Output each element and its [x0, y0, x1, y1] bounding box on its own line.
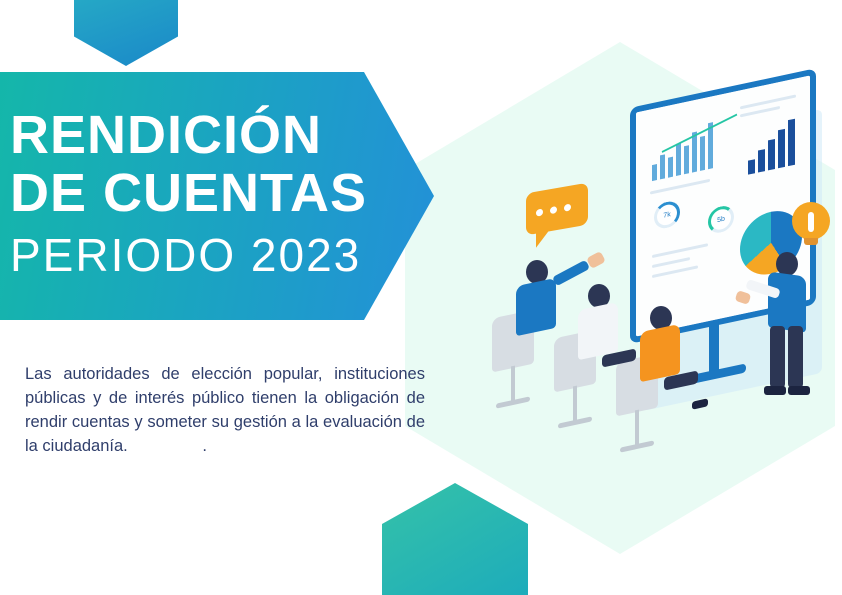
poster-subtitle-period: PERIODO 2023 — [10, 227, 434, 285]
bar-chart-graphic — [748, 117, 804, 175]
screen-text-line-4 — [652, 243, 708, 258]
donut-metric-1-label: 7k — [663, 211, 670, 220]
audience-person-3-shoe — [692, 398, 708, 409]
chair-3-leg — [635, 410, 639, 447]
chair-1-leg — [511, 366, 515, 403]
title-banner: RENDICIÓN DE CUENTAS PERIODO 2023 — [0, 72, 434, 320]
audience-person-1-body — [516, 278, 556, 337]
line-chart-graphic — [650, 112, 724, 182]
chair-2-leg — [573, 386, 577, 423]
donut-metric-2: 5b — [708, 204, 734, 236]
presenter-person-body — [768, 271, 806, 332]
light-bulb-base — [804, 238, 818, 245]
presenter-person-shoe-right — [788, 386, 810, 395]
poster-body-text: Las autoridades de elección popular, ins… — [25, 362, 425, 458]
donut-metric-1: 7k — [654, 199, 680, 231]
audience-person-3-body — [640, 324, 680, 383]
poster-body-text-content: Las autoridades de elección popular, ins… — [25, 365, 425, 455]
poster-title-line-1: RENDICIÓN — [10, 107, 434, 165]
poster-title-line-2: DE CUENTAS — [10, 165, 434, 223]
audience-person-1-arm — [552, 260, 590, 287]
presenter-person-shoe-left — [764, 386, 786, 395]
audience-person-2-body — [578, 302, 618, 361]
accountability-presentation-illustration: 7k 5b — [470, 70, 842, 530]
speech-bubble-icon — [526, 183, 588, 236]
poster-body-text-tail: . — [202, 437, 207, 455]
screen-text-line-5 — [652, 257, 690, 268]
presenter-person-leg-right — [788, 326, 803, 388]
hexagon-top-decoration — [74, 0, 178, 66]
donut-metric-2-label: 5b — [717, 215, 725, 224]
light-bulb-filament — [808, 212, 814, 232]
screen-text-line-3 — [650, 179, 710, 195]
screen-text-line-6 — [652, 265, 698, 278]
presenter-person-leg-left — [770, 326, 785, 388]
screen-text-line-1 — [740, 94, 796, 109]
poster-canvas: RENDICIÓN DE CUENTAS PERIODO 2023 Las au… — [0, 0, 842, 595]
